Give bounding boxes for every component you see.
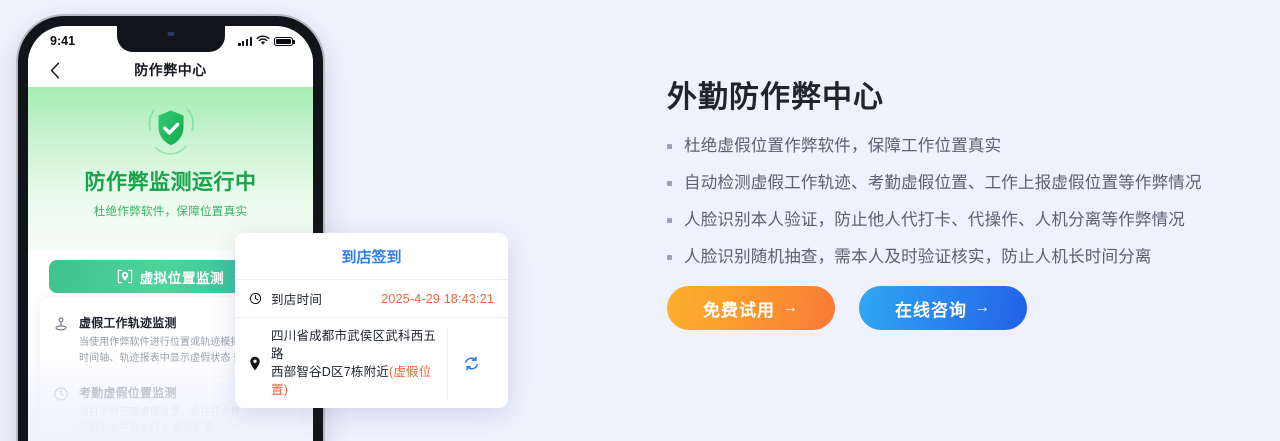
status-bar: 9:41	[28, 26, 313, 53]
checkin-time-label: 到店时间	[271, 289, 322, 308]
list-item-desc: 当打卡时使用虚假位置，会在打卡界 虚假状态并禁止打卡 查看示意	[79, 405, 288, 437]
page-root: 9:41 防作弊中心	[0, 0, 1280, 441]
status-icons	[238, 35, 293, 46]
shield-holder	[28, 101, 313, 159]
bullet-item: 人脸识别本人验证，防止他人代打卡、代操作、人机分离等作弊情况	[667, 210, 1252, 230]
headline: 外勤防作弊中心	[667, 72, 1252, 116]
bullet-item: 人脸识别随机抽查，需本人及时验证核实，防止人机长时间分离	[667, 247, 1252, 267]
hero-banner: 防作弊监测运行中 杜绝作弊软件，保障位置真实	[28, 87, 313, 250]
hero-subtitle: 杜绝作弊软件，保障位置真实	[28, 203, 313, 219]
checkin-address-line1: 四川省成都市武侯区武科西五路	[271, 329, 436, 361]
checkin-address-line2: 西部智谷D区7栋附近	[271, 365, 389, 379]
phone-navbar: 防作弊中心	[28, 53, 313, 87]
list-item-desc-line1: 当使用作弊软件进行位置或轨迹模拟	[79, 337, 241, 348]
list-item-link[interactable]: 查看示意	[173, 423, 213, 434]
clock-icon	[53, 384, 70, 437]
arrow-right-icon: →	[782, 299, 799, 317]
arrow-right-icon: →	[974, 299, 991, 317]
cta-row: 免费试用 → 在线咨询 →	[667, 286, 1252, 330]
checkin-address-row: 四川省成都市武侯区武科西五路 西部智谷D区7栋附近(虚假位置)	[235, 317, 508, 408]
map-location-icon	[117, 269, 133, 284]
list-item-desc-line2: 时间轴、轨迹报表中显示虚假状态	[79, 353, 231, 364]
checkin-card-title: 到店签到	[235, 233, 508, 279]
battery-full-icon	[274, 37, 293, 47]
clock-icon	[249, 292, 265, 305]
checkin-address-wrap: 四川省成都市武侯区武科西五路 西部智谷D区7栋附近(虚假位置)	[249, 327, 494, 399]
checkin-time-row: 到店时间 2025-4-29 18:43:21	[235, 279, 508, 317]
bullet-item: 杜绝虚假位置作弊软件，保障工作位置真实	[667, 136, 1252, 156]
online-consult-button[interactable]: 在线咨询 →	[859, 286, 1027, 330]
checkin-card: 到店签到 到店时间 2025-4-29 18:43:21	[235, 233, 508, 408]
status-time: 9:41	[50, 34, 75, 48]
bullet-item: 自动检测虚假工作轨迹、考勤虚假位置、工作上报虚假位置等作弊情况	[667, 173, 1252, 193]
cellular-signal-icon	[238, 36, 252, 46]
wifi-icon	[256, 35, 270, 46]
list-item-desc-line2: 虚假状态并禁止打卡	[79, 423, 170, 434]
page-title: 防作弊中心	[28, 60, 313, 80]
refresh-icon	[463, 355, 480, 372]
list-item-desc-line1: 当打卡时使用虚假位置，会在打卡界	[79, 407, 241, 418]
checkin-address-text: 四川省成都市武侯区武科西五路 西部智谷D区7栋附近(虚假位置)	[271, 327, 441, 399]
checkin-time-value: 2025-4-29 18:43:21	[381, 292, 494, 306]
content-panel: 外勤防作弊中心 杜绝虚假位置作弊软件，保障工作位置真实 自动检测虚假工作轨迹、考…	[667, 72, 1252, 330]
refresh-button[interactable]	[447, 327, 494, 399]
hero-title: 防作弊监测运行中	[28, 166, 313, 196]
free-trial-button[interactable]: 免费试用 →	[667, 286, 835, 330]
online-consult-label: 在线咨询	[895, 296, 967, 321]
feature-bullet-list: 杜绝虚假位置作弊软件，保障工作位置真实 自动检测虚假工作轨迹、考勤虚假位置、工作…	[667, 136, 1252, 267]
location-pin-icon	[249, 356, 265, 371]
shield-check-icon	[141, 101, 201, 159]
footprint-track-icon	[53, 314, 70, 367]
free-trial-label: 免费试用	[703, 296, 775, 321]
virtual-location-monitor-label: 虚拟位置监测	[140, 267, 225, 287]
